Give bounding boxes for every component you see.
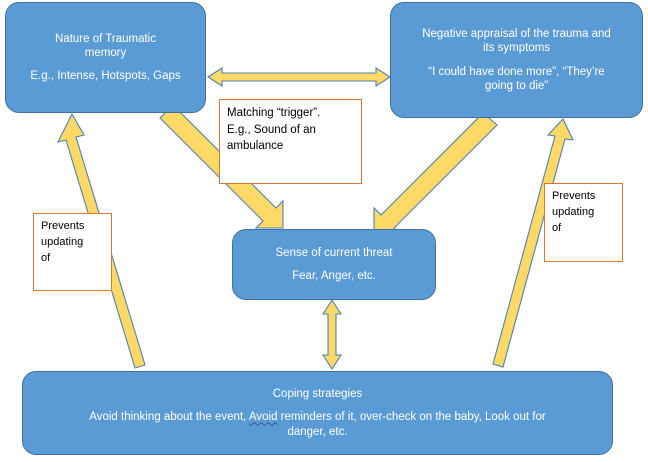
note-right-line3: of: [552, 221, 615, 237]
arrow-threat-coping: [323, 300, 341, 369]
node-appraisal-heading-line1: Negative appraisal of the trauma and: [399, 27, 634, 41]
note-right-line2: updating: [552, 205, 615, 221]
node-appraisal-heading-line2: its symptoms: [399, 41, 634, 55]
node-threat-heading: Sense of current threat: [241, 246, 427, 260]
note-matching-trigger[interactable]: Matching “trigger”. E.g., Sound of an am…: [219, 99, 362, 184]
note-left-line3: of: [41, 251, 104, 267]
note-right-line1: Prevents: [552, 189, 615, 205]
note-trigger-line2: E.g., Sound of an: [227, 122, 354, 139]
node-coping-heading: Coping strategies: [31, 387, 604, 401]
note-left-line2: updating: [41, 235, 104, 251]
note-prevents-updating-left[interactable]: Prevents updating of: [33, 213, 112, 291]
note-trigger-line3: ambulance: [227, 138, 354, 155]
node-appraisal-body-line1: “I could have done more”, “They’re: [399, 65, 634, 79]
diagram-canvas: Nature of Traumatic memory E.g., Intense…: [0, 0, 648, 462]
node-negative-appraisal[interactable]: Negative appraisal of the trauma and its…: [390, 2, 643, 118]
arrow-appraisal-to-threat: [374, 112, 497, 235]
node-sense-of-current-threat[interactable]: Sense of current threat Fear, Anger, etc…: [232, 229, 436, 300]
note-prevents-updating-right[interactable]: Prevents updating of: [544, 183, 623, 262]
node-coping-body-line1: Avoid thinking about the event, Avoid re…: [31, 410, 604, 424]
node-nature-of-traumatic-memory[interactable]: Nature of Traumatic memory E.g., Intense…: [5, 2, 206, 113]
node-coping-body-misspelled-word: Avoid: [249, 411, 278, 423]
node-memory-heading-line2: memory: [14, 46, 197, 60]
node-memory-heading-line1: Nature of Traumatic: [14, 32, 197, 46]
node-coping-body-post: reminders of it, over-check on the baby,…: [277, 411, 545, 423]
note-left-line1: Prevents: [41, 219, 104, 235]
node-coping-body-pre: Avoid thinking about the event,: [89, 411, 249, 423]
node-memory-body: E.g., Intense, Hotspots, Gaps: [14, 69, 197, 83]
node-threat-body: Fear, Anger, etc.: [241, 269, 427, 283]
note-trigger-line1: Matching “trigger”.: [227, 105, 354, 122]
node-appraisal-body-line2: going to die”: [399, 79, 634, 93]
node-coping-strategies[interactable]: Coping strategies Avoid thinking about t…: [22, 371, 613, 455]
node-coping-body-line2: danger, etc.: [31, 425, 604, 439]
arrow-memory-appraisal: [208, 68, 390, 86]
